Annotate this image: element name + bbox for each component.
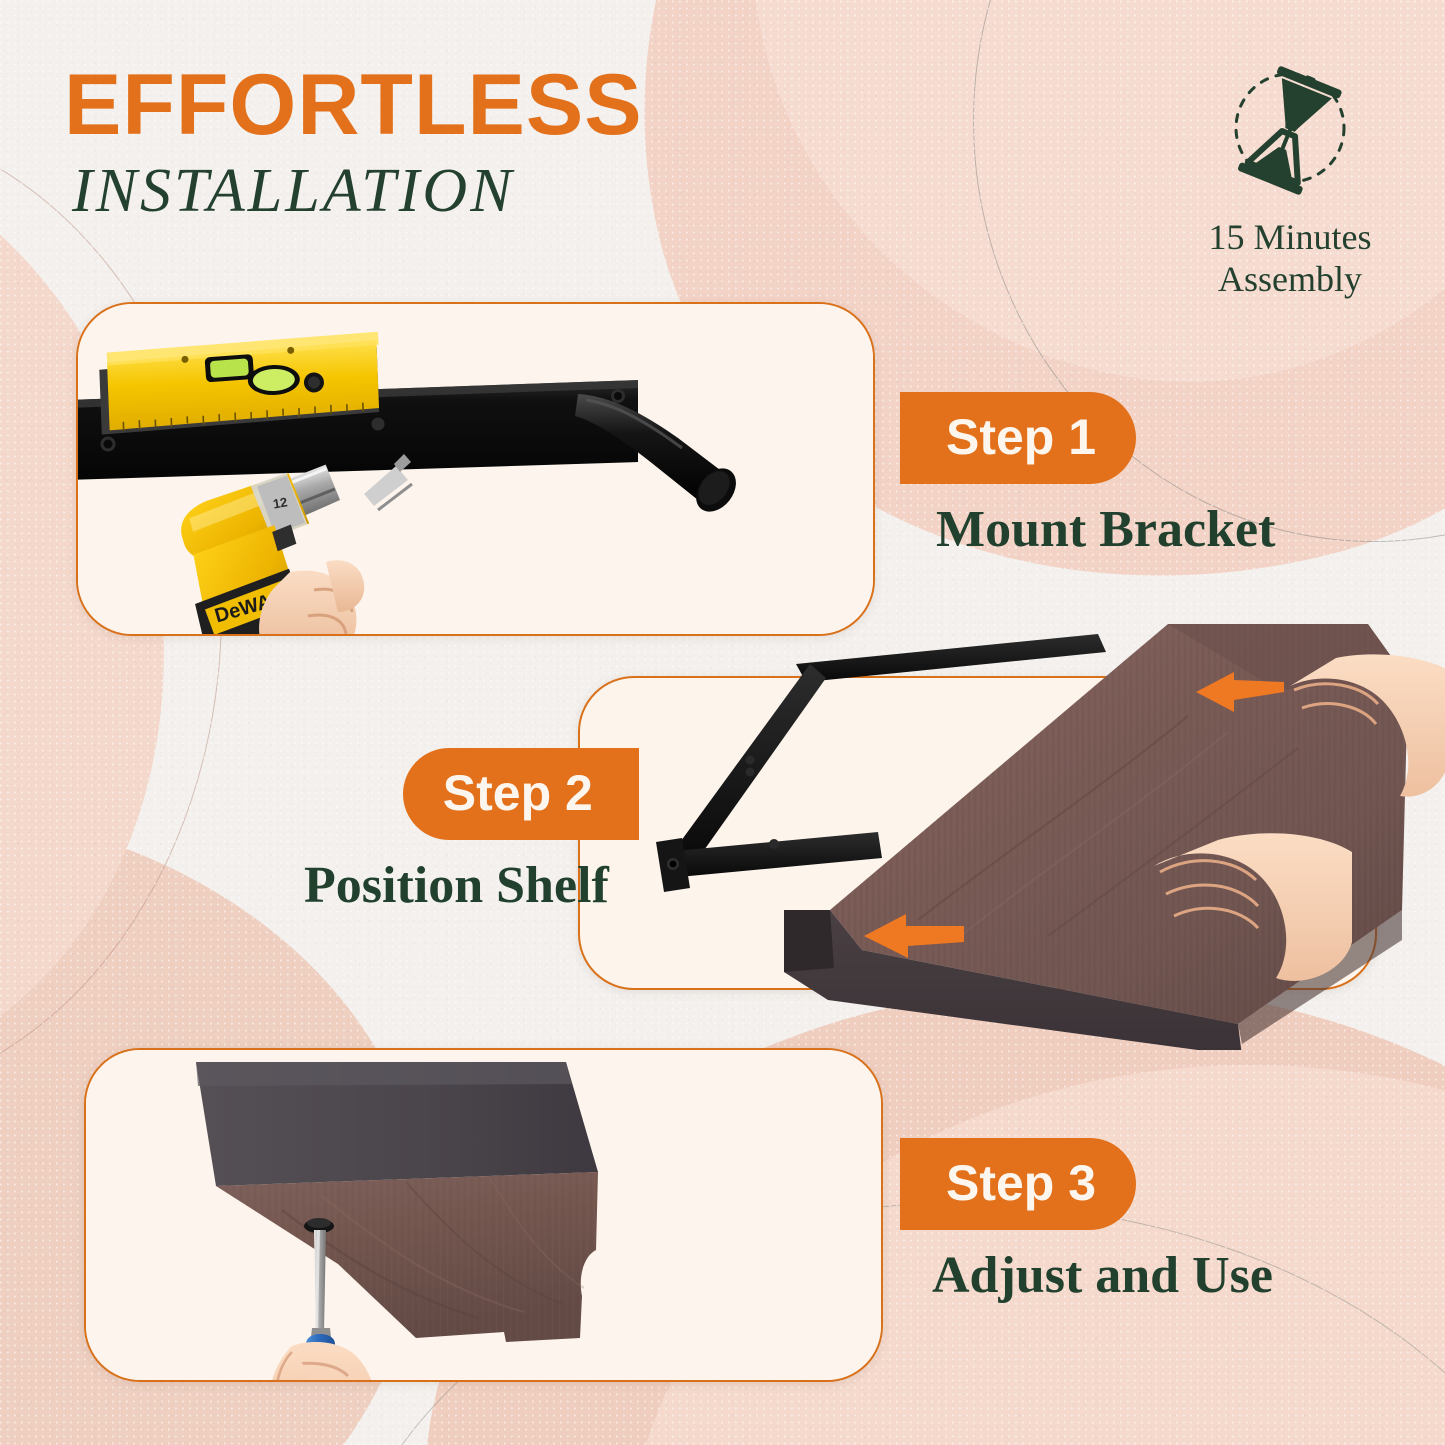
headline-block: EFFORTLESS INSTALLATION [64, 62, 643, 222]
step-3-pill: Step 3 [900, 1138, 1136, 1230]
assembly-time-badge: 15 Minutes Assembly [1180, 58, 1400, 301]
headline-primary: EFFORTLESS [64, 62, 643, 150]
step-1-image-card: 12 DeWALT [76, 302, 875, 636]
step-3-title: Adjust and Use [932, 1246, 1273, 1305]
svg-text:12: 12 [272, 494, 289, 511]
step-2-pill: Step 2 [403, 748, 639, 840]
step-1-illustration: 12 DeWALT [78, 304, 873, 634]
step-1-pill: Step 1 [900, 392, 1136, 484]
headline-secondary: INSTALLATION [72, 160, 643, 222]
step-2-title: Position Shelf [304, 856, 609, 915]
step-1-label-group: Step 1 Mount Bracket [900, 392, 1275, 559]
step-3-image-card [84, 1048, 883, 1382]
step-2-image-card [578, 676, 1377, 990]
assembly-badge-text: 15 Minutes Assembly [1180, 216, 1400, 301]
hourglass-icon [1220, 58, 1360, 208]
step-1-title: Mount Bracket [936, 500, 1275, 559]
step-2-label-group: Step 2 Position Shelf [304, 748, 639, 915]
infographic-canvas: EFFORTLESS INSTALLATION 15 Minutes [0, 0, 1445, 1445]
step-3-label-group: Step 3 Adjust and Use [900, 1138, 1273, 1305]
assembly-badge-line2: Assembly [1180, 258, 1400, 300]
step-3-illustration [86, 1050, 881, 1380]
assembly-badge-line1: 15 Minutes [1180, 216, 1400, 258]
